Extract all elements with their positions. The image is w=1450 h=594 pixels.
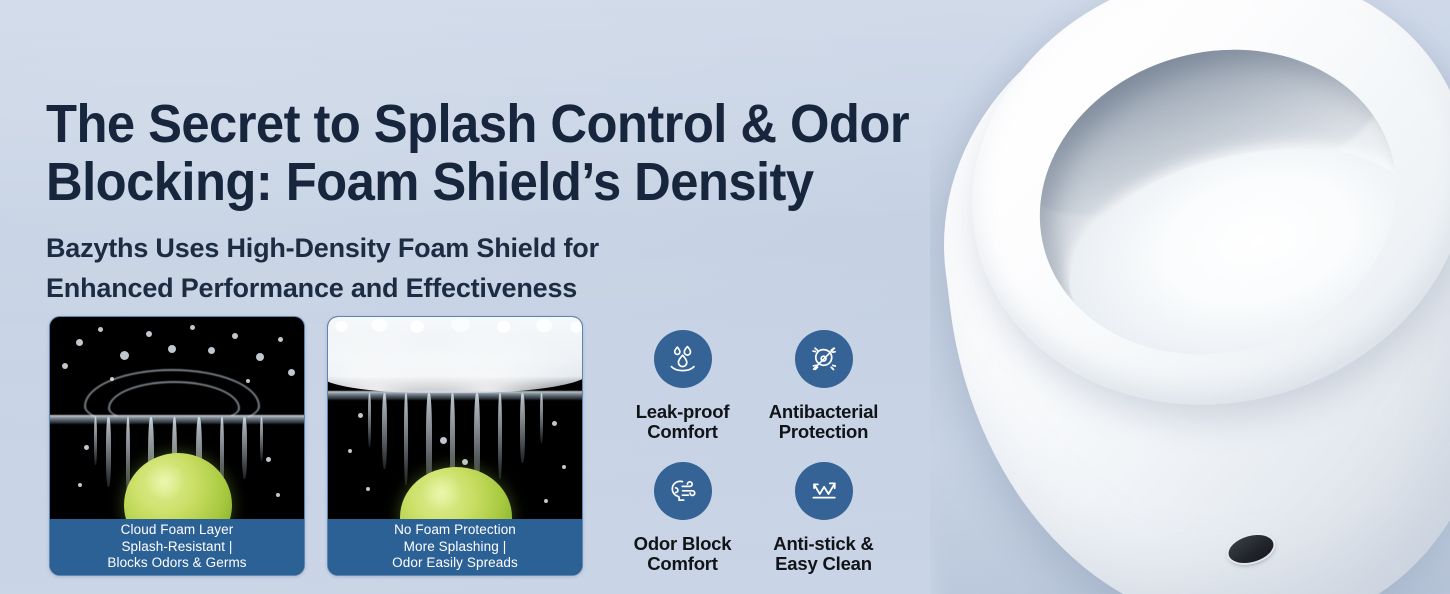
feature-label: Antibacterial Protection [769,402,878,442]
feature-label: Odor Block Comfort [634,534,732,574]
feature-item-odor-block-comfort[interactable]: Odor Block Comfort [612,462,753,594]
feature-label: Anti-stick & Easy Clean [773,534,873,574]
feature-label: Leak-proof Comfort [636,402,730,442]
content-column: The Secret to Splash Control & Odor Bloc… [46,0,926,594]
promo-banner: The Secret to Splash Control & Odor Bloc… [0,0,1450,594]
anti-stick-icon [807,474,841,508]
feature-icon-badge [795,462,853,520]
feature-item-antibacterial-protection[interactable]: Antibacterial Protection [753,330,894,462]
comparison-card[interactable]: Cloud Foam Layer Splash-Resistant | Bloc… [49,316,305,576]
comparison-card-list: Cloud Foam Layer Splash-Resistant | Bloc… [49,316,583,576]
splash-photo-left [50,317,304,521]
page-subtitle: Bazyths Uses High-Density Foam Shield fo… [46,228,746,308]
water-drops-icon [666,342,700,376]
antibacterial-icon [807,342,841,376]
feature-item-anti-stick-easy-clean[interactable]: Anti-stick & Easy Clean [753,462,894,594]
feature-icon-badge [654,462,712,520]
product-image-toilet-bowl-with-foam [930,0,1450,594]
feature-icon-badge [795,330,853,388]
feature-item-leak-proof-comfort[interactable]: Leak-proof Comfort [612,330,753,462]
splash-photo-right [328,317,582,521]
comparison-card[interactable]: No Foam Protection More Splashing | Odor… [327,316,583,576]
comparison-card-caption: Cloud Foam Layer Splash-Resistant | Bloc… [50,519,304,575]
comparison-card-caption: No Foam Protection More Splashing | Odor… [328,519,582,575]
foam-layer [328,317,582,393]
feature-icon-badge [654,330,712,388]
nose-odor-block-icon [666,474,700,508]
feature-list: Leak-proof Comfort [612,330,894,594]
page-title: The Secret to Splash Control & Odor Bloc… [46,95,920,211]
